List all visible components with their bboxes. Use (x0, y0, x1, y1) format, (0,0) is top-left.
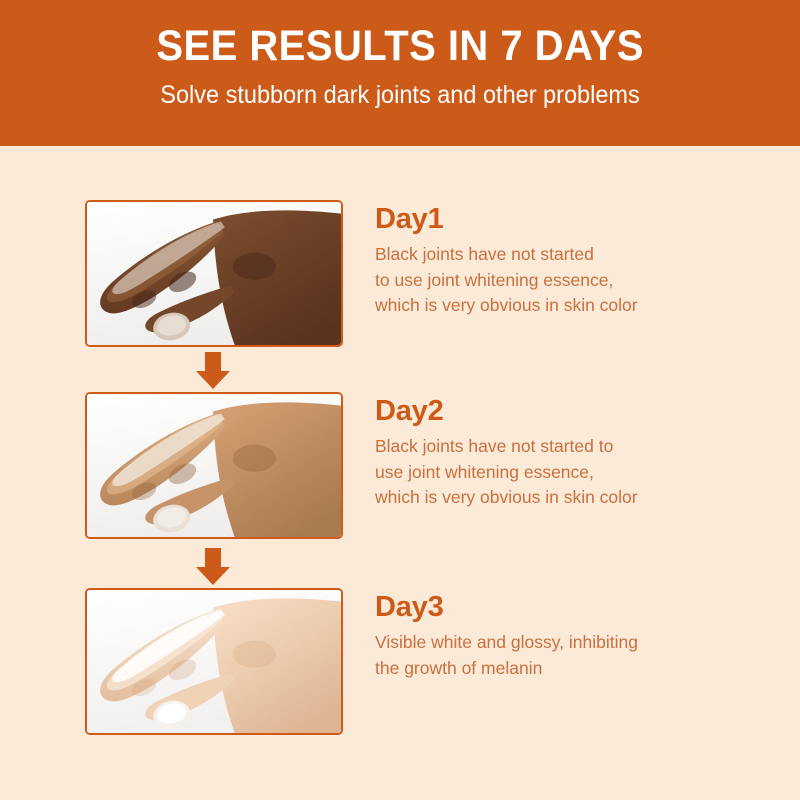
desc-line: to use joint whitening essence, (375, 268, 705, 294)
arrow-day2-to-day3-icon (196, 548, 230, 584)
step-heading-day1: Day1 (375, 205, 705, 234)
results-timeline: Day1 Black joints have not started to us… (0, 146, 800, 800)
photo-day2 (87, 394, 341, 537)
photo-panel-day2 (85, 392, 343, 539)
desc-line: Black joints have not started (375, 242, 705, 268)
step-heading-day3: Day3 (375, 593, 705, 622)
hand-illustration-day2 (87, 394, 341, 537)
step-text-day1: Day1 Black joints have not started to us… (375, 205, 705, 319)
photo-panel-day1 (85, 200, 343, 347)
step-text-day3: Day3 Visible white and glossy, inhibitin… (375, 593, 705, 681)
step-description-day3: Visible white and glossy, inhibiting the… (375, 630, 705, 681)
hand-illustration-day3 (87, 590, 341, 733)
desc-line: use joint whitening essence, (375, 460, 705, 486)
arrow-shaft (205, 548, 221, 568)
photo-day1 (87, 202, 341, 345)
desc-line: which is very obvious in skin color (375, 485, 705, 511)
hand-image-day1 (87, 202, 341, 345)
step-row-day2: Day2 Black joints have not started to us… (0, 392, 800, 542)
step-row-day3: Day3 Visible white and glossy, inhibitin… (0, 588, 800, 738)
step-row-day1: Day1 Black joints have not started to us… (0, 200, 800, 350)
header-banner: SEE RESULTS IN 7 DAYS Solve stubborn dar… (0, 0, 800, 146)
desc-line: which is very obvious in skin color (375, 293, 705, 319)
hand-image-day2 (87, 394, 341, 537)
page-subtitle: Solve stubborn dark joints and other pro… (160, 82, 639, 110)
photo-day3 (87, 590, 341, 733)
desc-line: Black joints have not started to (375, 434, 705, 460)
arrow-head (196, 567, 230, 585)
arrow-day1-to-day2-icon (196, 352, 230, 388)
step-description-day2: Black joints have not started to use joi… (375, 434, 705, 511)
page-title: SEE RESULTS IN 7 DAYS (156, 24, 644, 69)
step-text-day2: Day2 Black joints have not started to us… (375, 397, 705, 511)
hand-illustration-day1 (87, 202, 341, 345)
step-heading-day2: Day2 (375, 397, 705, 426)
desc-line: Visible white and glossy, inhibiting (375, 630, 705, 656)
step-description-day1: Black joints have not started to use joi… (375, 242, 705, 319)
arrow-head (196, 371, 230, 389)
hand-image-day3 (87, 590, 341, 733)
photo-panel-day3 (85, 588, 343, 735)
arrow-shaft (205, 352, 221, 372)
desc-line: the growth of melanin (375, 656, 705, 682)
